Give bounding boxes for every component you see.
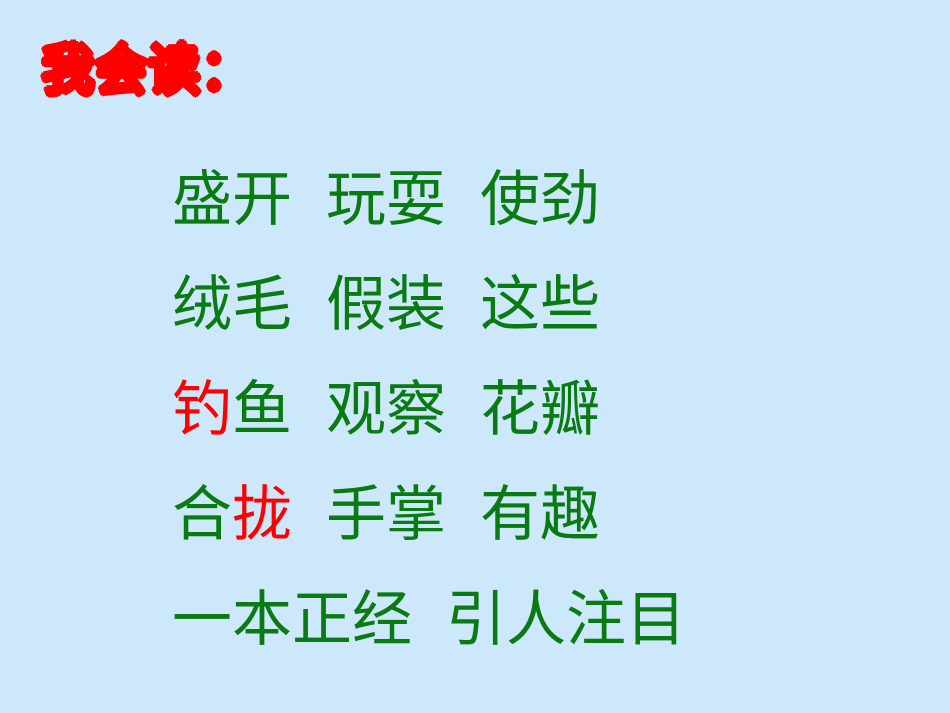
vocabulary-word[interactable]: 钓鱼 bbox=[172, 358, 292, 463]
vocabulary-word-list: 盛开玩耍使劲绒毛假装这些钓鱼观察花瓣合拢手掌有趣一本正经引人注目 bbox=[172, 148, 932, 673]
character: 玩 bbox=[326, 148, 386, 253]
character: 些 bbox=[540, 253, 600, 358]
character: 合 bbox=[172, 463, 232, 568]
character: 注 bbox=[566, 568, 626, 673]
word-row: 绒毛假装这些 bbox=[172, 253, 932, 358]
vocabulary-word[interactable]: 一本正经 bbox=[172, 568, 412, 673]
character: 这 bbox=[480, 253, 540, 358]
character: 本 bbox=[232, 568, 292, 673]
character: 劲 bbox=[540, 148, 600, 253]
character: 瓣 bbox=[540, 358, 600, 463]
character: 观 bbox=[326, 358, 386, 463]
character: 花 bbox=[480, 358, 540, 463]
character: 开 bbox=[232, 148, 292, 253]
character: 掌 bbox=[386, 463, 446, 568]
character: 一 bbox=[172, 568, 232, 673]
character: 人 bbox=[506, 568, 566, 673]
character: 盛 bbox=[172, 148, 232, 253]
highlighted-character: 钓 bbox=[172, 358, 232, 463]
vocabulary-word[interactable]: 手掌 bbox=[326, 463, 446, 568]
character: 经 bbox=[352, 568, 412, 673]
word-row: 一本正经引人注目 bbox=[172, 568, 932, 673]
character: 绒 bbox=[172, 253, 232, 358]
character: 耍 bbox=[386, 148, 446, 253]
vocabulary-word[interactable]: 盛开 bbox=[172, 148, 292, 253]
vocabulary-word[interactable]: 绒毛 bbox=[172, 253, 292, 358]
word-row: 钓鱼观察花瓣 bbox=[172, 358, 932, 463]
character: 有 bbox=[480, 463, 540, 568]
character: 察 bbox=[386, 358, 446, 463]
slide-canvas: 我会读： 盛开玩耍使劲绒毛假装这些钓鱼观察花瓣合拢手掌有趣一本正经引人注目 bbox=[0, 0, 950, 713]
page-title: 我会读： bbox=[42, 41, 254, 101]
vocabulary-word[interactable]: 观察 bbox=[326, 358, 446, 463]
vocabulary-word[interactable]: 这些 bbox=[480, 253, 600, 358]
vocabulary-word[interactable]: 假装 bbox=[326, 253, 446, 358]
vocabulary-word[interactable]: 花瓣 bbox=[480, 358, 600, 463]
character: 毛 bbox=[232, 253, 292, 358]
vocabulary-word[interactable]: 玩耍 bbox=[326, 148, 446, 253]
character: 正 bbox=[292, 568, 352, 673]
character: 使 bbox=[480, 148, 540, 253]
vocabulary-word[interactable]: 使劲 bbox=[480, 148, 600, 253]
vocabulary-word[interactable]: 合拢 bbox=[172, 463, 292, 568]
character: 装 bbox=[386, 253, 446, 358]
vocabulary-word[interactable]: 引人注目 bbox=[446, 568, 686, 673]
character: 目 bbox=[626, 568, 686, 673]
character: 鱼 bbox=[232, 358, 292, 463]
character: 手 bbox=[326, 463, 386, 568]
word-row: 盛开玩耍使劲 bbox=[172, 148, 932, 253]
character: 假 bbox=[326, 253, 386, 358]
vocabulary-word[interactable]: 有趣 bbox=[480, 463, 600, 568]
word-row: 合拢手掌有趣 bbox=[172, 463, 932, 568]
highlighted-character: 拢 bbox=[232, 463, 292, 568]
character: 趣 bbox=[540, 463, 600, 568]
character: 引 bbox=[446, 568, 506, 673]
